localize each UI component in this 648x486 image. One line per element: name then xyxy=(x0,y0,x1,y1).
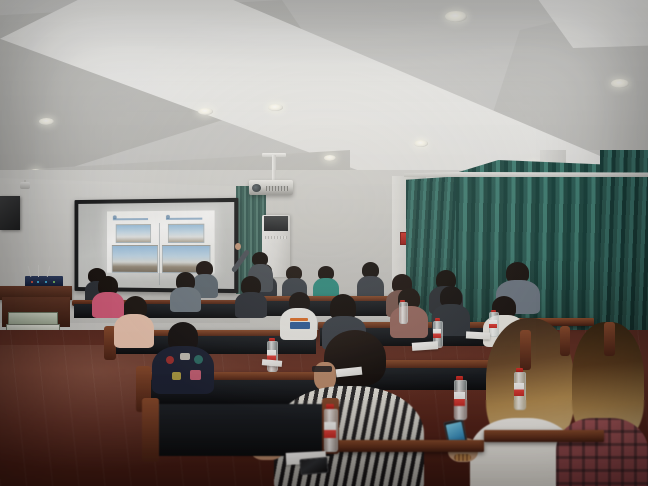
mixer-antenna-mid xyxy=(38,265,39,277)
torso xyxy=(170,287,201,312)
water-bottle-6[interactable] xyxy=(488,310,498,335)
projector-vent xyxy=(266,186,288,191)
torso xyxy=(92,292,124,318)
mixer-led-2 xyxy=(37,281,39,283)
bottle-label xyxy=(489,320,497,328)
downlight-3 xyxy=(268,104,283,111)
chair-arm-right-3 xyxy=(560,326,570,356)
phone-on-desk-icon[interactable] xyxy=(299,457,328,475)
bottle-label xyxy=(324,422,336,438)
paper-handout-2[interactable] xyxy=(466,331,490,339)
slide-header-left xyxy=(113,218,148,220)
plaid-torso xyxy=(556,418,648,486)
downlight-1 xyxy=(39,118,54,125)
downlight-7 xyxy=(324,155,336,161)
water-bottle-3[interactable] xyxy=(512,368,526,408)
slide-photo-top-right xyxy=(168,224,204,243)
slide-header-right xyxy=(166,218,202,220)
bottle-label xyxy=(433,329,441,338)
jacket-patch-1 xyxy=(166,356,174,364)
projector-lens-icon xyxy=(252,184,261,192)
bottle-body xyxy=(399,302,408,324)
air-conditioner-display xyxy=(264,216,288,231)
security-camera-icon xyxy=(20,182,30,189)
mixer-led-3 xyxy=(45,281,47,283)
bench-arm-row5-left xyxy=(142,398,159,462)
conference-room-photo xyxy=(0,0,648,486)
projector-mount-pole xyxy=(272,155,276,182)
air-conditioner-vent xyxy=(265,236,287,239)
slide-column-divider xyxy=(159,223,160,285)
tshirt-graphic-text xyxy=(290,322,310,329)
raised-hand xyxy=(235,243,241,250)
tshirt-graphic-top xyxy=(290,318,308,321)
water-bottle-7[interactable] xyxy=(398,300,407,322)
bracelet xyxy=(454,454,471,461)
chair-arm-right-1 xyxy=(520,330,531,370)
wall-speaker-icon xyxy=(0,196,20,230)
water-bottle-2[interactable] xyxy=(452,376,467,418)
torso xyxy=(390,306,428,338)
glasses-icon xyxy=(312,366,332,372)
torso xyxy=(114,314,154,348)
mixer-led-1 xyxy=(31,281,33,283)
bench-back-row5 xyxy=(150,404,330,456)
bottle-label xyxy=(454,392,465,406)
slide-bullet-left xyxy=(113,215,117,219)
bottle-label xyxy=(514,383,524,396)
slide-photo-top-left xyxy=(116,224,151,243)
jacket-patch-2 xyxy=(180,353,190,360)
downlight-6 xyxy=(414,140,428,147)
downlight-4 xyxy=(445,11,467,22)
curtain-rod xyxy=(404,172,648,177)
torso xyxy=(235,292,267,318)
mixer-led-4 xyxy=(53,281,55,283)
jacket-patch-5 xyxy=(172,372,181,380)
jacket-patch-3 xyxy=(194,355,203,364)
downlight-2 xyxy=(198,108,213,115)
water-bottle-1[interactable] xyxy=(322,404,338,450)
desk-top-row5b xyxy=(484,430,604,442)
chair-arm-right-2 xyxy=(604,322,615,356)
jacket-patch-4 xyxy=(190,370,201,380)
slide-bullet-right xyxy=(166,215,170,219)
downlight-5 xyxy=(611,79,629,88)
slide-photo-bottom-left xyxy=(112,245,158,273)
